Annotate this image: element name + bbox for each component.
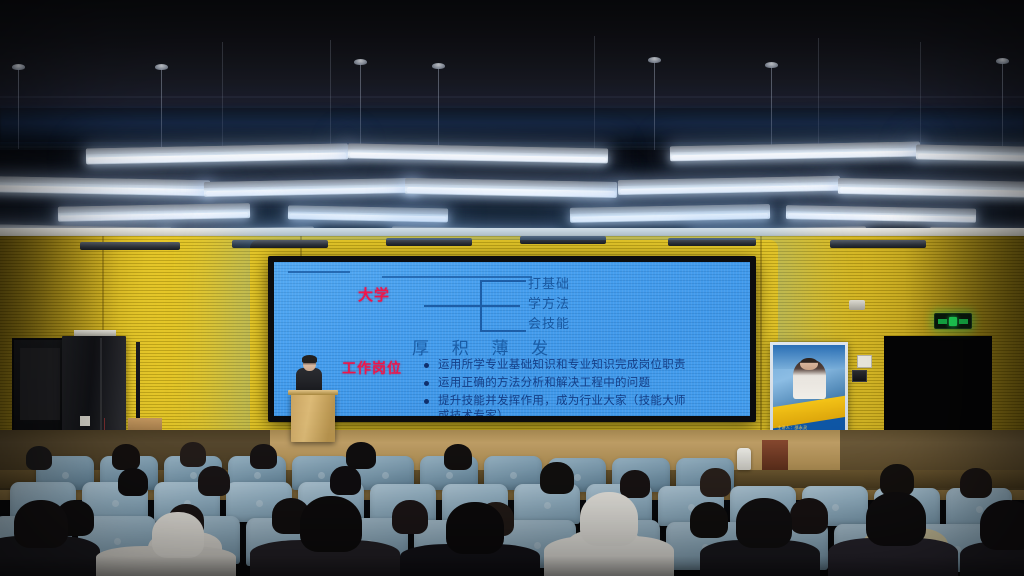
door-glass-panel — [20, 348, 60, 420]
audience-head — [790, 498, 828, 534]
suspension-cable — [360, 64, 361, 150]
suspension-cable — [920, 42, 921, 154]
suspension-cable — [161, 69, 162, 151]
audience-head — [580, 492, 638, 546]
wall-mounted-bar — [386, 238, 472, 246]
left-door[interactable] — [12, 338, 68, 438]
wall-mounted-bar — [232, 240, 328, 248]
suspension-cable — [654, 62, 655, 150]
bullet-text: 提升技能并发挥作用，成为行业大家（技能大师 — [438, 395, 686, 407]
slide-rule-top — [288, 271, 350, 273]
ceiling-light-fixture — [916, 145, 1024, 163]
slide-headline: 厚 积 薄 发 — [412, 334, 557, 359]
bullet-dot-icon — [424, 399, 429, 404]
audience-head — [112, 444, 140, 470]
ceiling-beam — [0, 108, 1024, 142]
bullet-dot-icon — [424, 381, 429, 386]
foreground-shadow — [0, 556, 1024, 576]
suspension-cable — [438, 68, 439, 152]
audience-head — [26, 446, 52, 470]
suspension-cable — [594, 36, 595, 154]
suspension-cable — [818, 38, 819, 154]
podium — [291, 392, 335, 442]
slide-label-university: 大学 — [358, 284, 390, 305]
audience-head — [980, 500, 1024, 550]
wall-card-holder — [852, 370, 867, 382]
audience-head — [540, 462, 574, 494]
poster-person-head — [800, 358, 817, 371]
wall-mounted-bar — [830, 240, 926, 248]
list-item: 运用正确的方法分析和解决工程中的问题 — [424, 376, 744, 391]
exit-sign-text-glyph — [959, 319, 968, 324]
running-man-icon — [949, 317, 957, 326]
suspension-cable — [330, 40, 331, 152]
audience-head — [960, 468, 992, 498]
wall-seam — [760, 236, 762, 436]
equipment-rack — [62, 336, 126, 436]
suspension-cable — [18, 69, 19, 149]
ceiling-ridge — [0, 96, 1024, 98]
list-item: 提升技能并发挥作用，成为行业大家（技能大师 或技术专家） — [424, 394, 744, 416]
presentation-slide: 大学 工作岗位 打基础 学方法 会技能 厚 积 薄 发 运用所学专业基础知识和专… — [274, 262, 750, 416]
wall-switch-plate[interactable] — [857, 355, 872, 368]
audience-head — [700, 468, 731, 497]
lecture-hall-photo: 大学 工作岗位 打基础 学方法 会技能 厚 积 薄 发 运用所学专业基础知识和专… — [0, 0, 1024, 576]
audience-head — [180, 442, 206, 467]
podium-top — [288, 390, 338, 395]
emergency-light — [849, 300, 865, 310]
bullet-text: 运用所学专业基础知识和专业知识完成岗位职责 — [438, 359, 686, 371]
audience-head — [330, 466, 361, 495]
audience-head — [444, 444, 472, 470]
slide-branch-3: 会技能 — [528, 313, 570, 332]
audience-head — [446, 502, 504, 554]
audience-head — [152, 512, 204, 558]
slide-brace-connector — [424, 278, 542, 334]
bullet-text: 运用正确的方法分析和解决工程中的问题 — [438, 377, 650, 389]
exit-sign-text-glyph — [938, 319, 947, 324]
audience-head — [736, 498, 792, 548]
slide-bullet-list: 运用所学专业基础知识和专业知识完成岗位职责 运用正确的方法分析和解决工程中的问题… — [424, 358, 744, 416]
suspension-cable — [771, 67, 772, 153]
audience-head — [300, 496, 362, 552]
suspension-cable — [222, 42, 223, 150]
audience-head — [250, 444, 277, 469]
audience-head — [392, 500, 428, 534]
audience-head — [118, 468, 148, 496]
led-screen-bezel: 大学 工作岗位 打基础 学方法 会技能 厚 积 薄 发 运用所学专业基础知识和专… — [268, 256, 756, 422]
audience-head — [620, 470, 650, 498]
wall-mounted-bar — [668, 238, 756, 246]
bullet-dot-icon — [424, 363, 429, 368]
audience-head — [346, 442, 376, 469]
audience-head — [198, 466, 230, 496]
slide-branch-2: 学方法 — [528, 293, 570, 312]
bullet-text-continued: 或技术专家） — [438, 409, 744, 416]
wall-mounted-bar — [80, 242, 180, 250]
audience-head — [690, 502, 728, 538]
slide-branch-1: 打基础 — [528, 273, 570, 292]
slide-label-job: 工作岗位 — [342, 358, 402, 378]
exit-sign-icon — [934, 313, 972, 329]
list-item: 运用所学专业基础知识和专业知识完成岗位职责 — [424, 358, 744, 373]
presenter-hair — [302, 355, 317, 363]
audience-head — [14, 500, 68, 548]
audience-head — [866, 492, 926, 546]
suspension-cable — [1002, 63, 1003, 149]
rack-label — [80, 416, 90, 426]
audience-area — [0, 440, 1024, 576]
rack-seam — [100, 338, 102, 434]
wall-mounted-bar — [520, 236, 606, 244]
